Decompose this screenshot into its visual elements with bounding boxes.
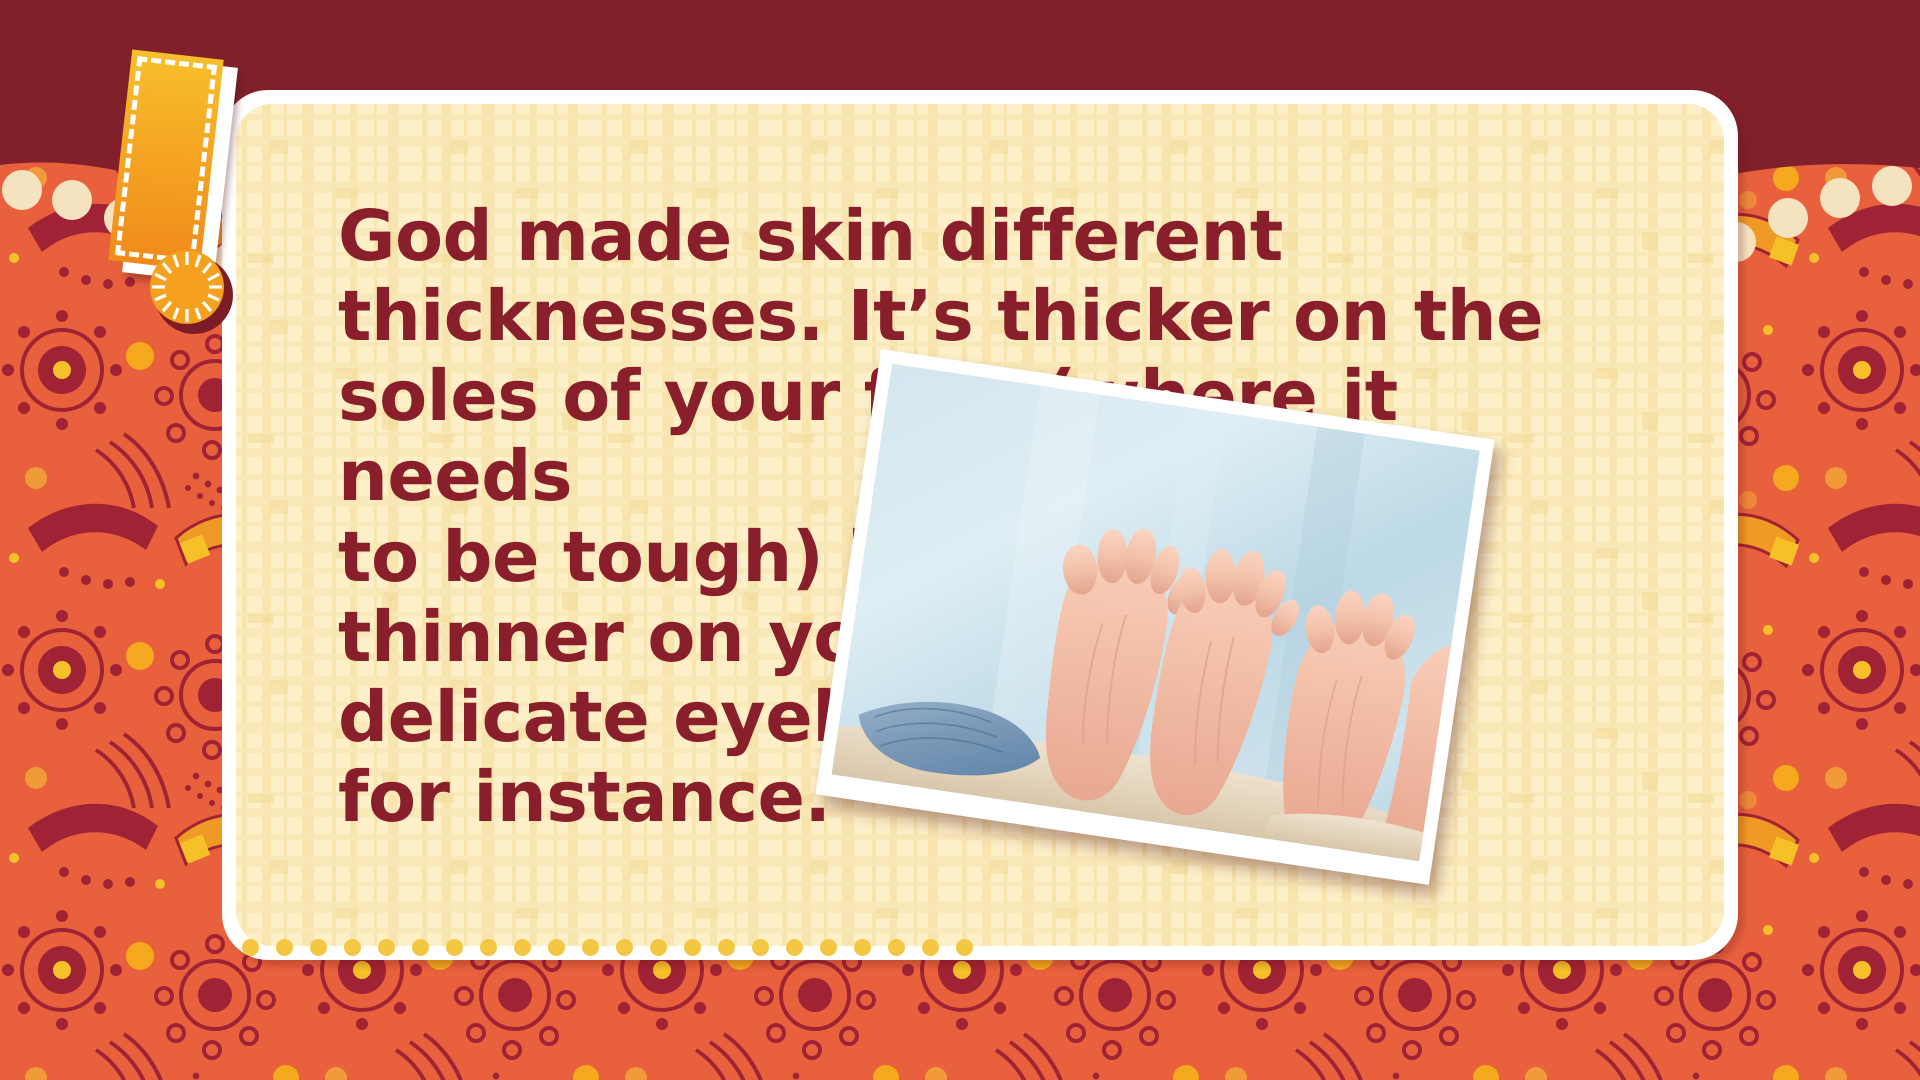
dot (514, 939, 531, 956)
dot (616, 939, 633, 956)
dot (854, 939, 871, 956)
dot (242, 939, 259, 956)
slide-canvas: God made skin different thicknesses. It’… (0, 0, 1920, 1080)
dot (480, 939, 497, 956)
dot (412, 939, 429, 956)
dot (922, 939, 939, 956)
dot (582, 939, 599, 956)
card-dot-rule (242, 936, 1032, 958)
dot (310, 939, 327, 956)
dot (956, 939, 973, 956)
sun-icon (148, 248, 226, 326)
dot (650, 939, 667, 956)
dot (684, 939, 701, 956)
dot (548, 939, 565, 956)
dot (820, 939, 837, 956)
dot (888, 939, 905, 956)
dot (786, 939, 803, 956)
dot (446, 939, 463, 956)
sun-badge (148, 248, 232, 332)
photo-card (815, 349, 1494, 885)
dot (276, 939, 293, 956)
feet-illustration (832, 364, 1480, 861)
photo-frame (815, 349, 1494, 885)
dot (378, 939, 395, 956)
bare-feet-photo (832, 364, 1480, 861)
tag-stitch-border (115, 56, 217, 264)
dot (718, 939, 735, 956)
dot (752, 939, 769, 956)
dot (344, 939, 361, 956)
